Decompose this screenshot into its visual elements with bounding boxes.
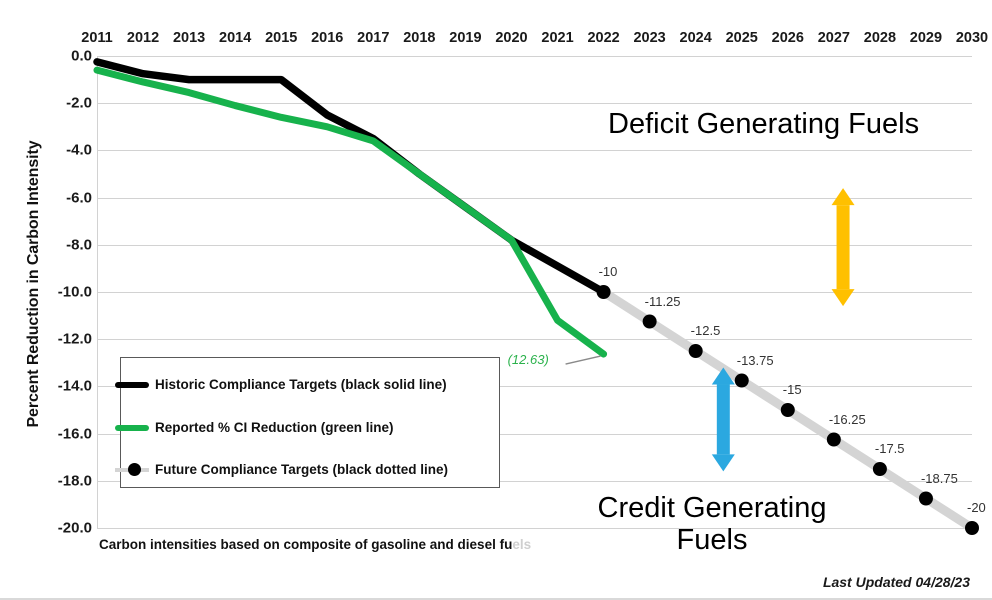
x-axis-tick-label: 2027 <box>818 30 850 46</box>
x-axis-tick-label: 2025 <box>726 30 758 46</box>
x-axis-tick-label: 2012 <box>127 30 159 46</box>
green-endpoint-leader-line <box>566 356 601 364</box>
data-point-label: -16.25 <box>829 412 866 427</box>
data-point-marker <box>965 521 979 535</box>
data-point-label: -15 <box>783 382 802 397</box>
data-point-marker <box>919 492 933 506</box>
data-point-label: -20 <box>967 500 986 515</box>
data-point-label: -11.25 <box>645 294 681 309</box>
x-axis-tick-label: 2022 <box>587 30 619 46</box>
legend-item-label: Historic Compliance Targets (black solid… <box>155 377 447 392</box>
x-axis-tick-label: 2029 <box>910 30 942 46</box>
x-axis-tick-label: 2028 <box>864 30 896 46</box>
x-axis-tick-label: 2019 <box>449 30 481 46</box>
green-solid-line-swatch-icon <box>115 417 149 437</box>
legend-item-future: Future Compliance Targets (black dotted … <box>121 458 499 480</box>
legend-item-historic: Historic Compliance Targets (black solid… <box>121 373 499 395</box>
x-axis-tick-label: 2021 <box>541 30 573 46</box>
x-axis-tick-label: 2013 <box>173 30 205 46</box>
x-axis-tick-label: 2015 <box>265 30 297 46</box>
data-point-marker <box>735 374 749 388</box>
x-axis-tick-label: 2011 <box>81 30 112 46</box>
black-solid-line-swatch-icon <box>115 374 149 394</box>
data-point-label: -10 <box>599 264 618 279</box>
carbon-intensity-chart: Percent Reduction in Carbon Intensity 0.… <box>0 0 992 600</box>
historic-compliance-target-line <box>97 62 604 292</box>
legend: Historic Compliance Targets (black solid… <box>120 357 500 488</box>
deficit-arrow <box>832 188 855 306</box>
x-axis-tick-label: 2017 <box>357 30 389 46</box>
footnote-visible-text: Carbon intensities based on composite of… <box>99 537 512 552</box>
x-axis-tick-label: 2026 <box>772 30 804 46</box>
data-point-label: -13.75 <box>737 353 774 368</box>
data-point-marker <box>873 462 887 476</box>
last-updated-label: Last Updated 04/28/23 <box>823 574 970 590</box>
x-axis-tick-label: 2014 <box>219 30 251 46</box>
data-point-label: -12.5 <box>691 323 721 338</box>
x-axis-tick-label: 2018 <box>403 30 435 46</box>
reported-ci-reduction-line <box>97 70 604 354</box>
legend-item-label: Reported % CI Reduction (green line) <box>155 420 394 435</box>
data-point-marker <box>597 285 611 299</box>
data-point-marker <box>689 344 703 358</box>
x-axis-tick-label: 2020 <box>495 30 527 46</box>
x-axis-tick-label: 2016 <box>311 30 343 46</box>
x-axis-tick-label: 2023 <box>633 30 665 46</box>
data-point-marker <box>643 315 657 329</box>
green-endpoint-label: (12.63) <box>508 352 549 367</box>
data-point-label: -18.75 <box>921 471 958 486</box>
data-point-marker <box>827 433 841 447</box>
deficit-generating-fuels-label: Deficit Generating Fuels <box>608 108 919 140</box>
credit-generating-fuels-label: Credit Generating Fuels <box>562 492 862 557</box>
legend-item-label: Future Compliance Targets (black dotted … <box>155 462 448 477</box>
x-axis-tick-label: 2024 <box>680 30 712 46</box>
data-point-label: -17.5 <box>875 441 905 456</box>
credit-arrow <box>712 368 735 472</box>
black-dotted-line-swatch-icon <box>115 459 149 479</box>
footnote-faded-text: els <box>512 537 531 552</box>
legend-item-reported: Reported % CI Reduction (green line) <box>121 416 499 438</box>
data-point-marker <box>781 403 795 417</box>
x-axis-tick-label: 2030 <box>956 30 988 46</box>
footnote: Carbon intensities based on composite of… <box>99 537 531 552</box>
